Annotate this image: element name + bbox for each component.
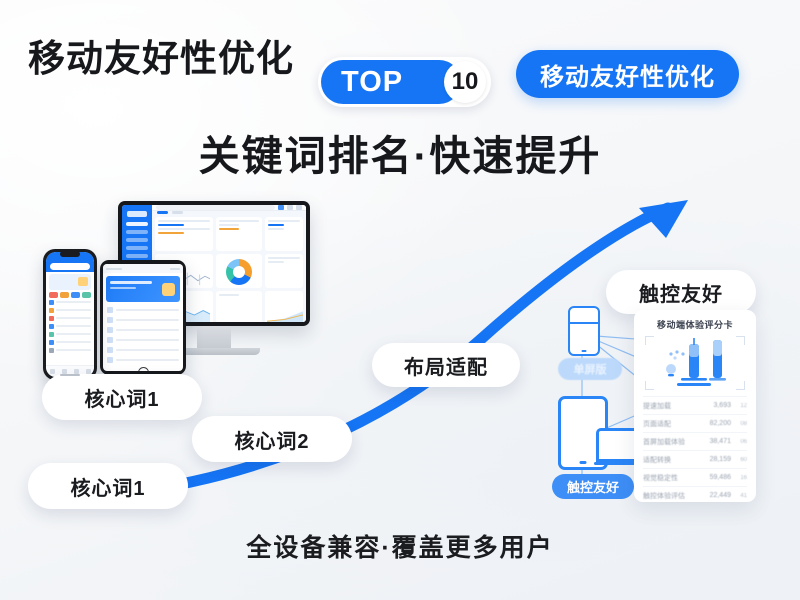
card-line — [158, 220, 210, 222]
list-text-line — [56, 341, 91, 343]
dashboard-area-card — [265, 291, 303, 322]
scorecard-title: 移动端体验评分卡 — [643, 318, 747, 331]
tablet-mockup — [100, 260, 186, 375]
dashboard-topbar-chip — [278, 205, 284, 210]
quick-icon[interactable] — [60, 292, 69, 298]
keyword-pill-3[interactable]: 核心词1 — [28, 463, 188, 509]
tablet-list-item[interactable] — [103, 315, 183, 325]
dashboard-nav-item — [126, 246, 148, 250]
phone-search-input[interactable] — [50, 263, 90, 270]
dashboard-topbar-chip — [296, 205, 302, 210]
phone-list-item[interactable] — [46, 298, 94, 306]
scorecard-row-name: 适配转换 — [643, 455, 705, 465]
card-line — [268, 224, 284, 226]
list-icon — [107, 327, 113, 333]
tablet-list-item[interactable] — [103, 345, 183, 355]
dashboard-nav-item — [126, 238, 148, 242]
card-line — [158, 224, 184, 226]
list-icon — [107, 347, 113, 353]
scorecard-row-name: 首屏加载体验 — [643, 437, 705, 447]
dashboard-topbar-chip — [287, 205, 293, 210]
scorecard-row: 页面适配82,20008 — [643, 414, 747, 432]
phone-small-icon — [568, 306, 600, 356]
frame-corner — [645, 336, 654, 345]
page-subtitle: 关键词排名·快速提升 — [0, 122, 800, 182]
list-icon — [49, 316, 54, 321]
top-badge-number: 10 — [452, 68, 479, 96]
keyword-pill-2[interactable]: 核心词2 — [192, 416, 352, 462]
scorecard-row-value: 38,471 — [709, 438, 731, 445]
list-icon — [49, 340, 54, 345]
list-icon — [107, 317, 113, 323]
list-text-line — [116, 339, 179, 341]
list-text-line — [56, 333, 91, 335]
banner-thumbnail — [162, 283, 175, 296]
scorecard-row-delta: 60 — [735, 457, 747, 463]
header-tag-pill: 移动友好性优化 — [516, 50, 739, 98]
diagram-tag-touch: 触控友好 — [552, 474, 634, 499]
top-badge-blue-body: TOP — [321, 60, 461, 104]
scorecard-row: 适配转换28,15960 — [643, 450, 747, 468]
phone-list-item[interactable] — [46, 338, 94, 346]
smartphone-mockup — [43, 249, 97, 380]
dashboard-nav-item — [126, 222, 148, 226]
dashboard-card — [216, 291, 262, 322]
tablet-banner — [106, 276, 180, 302]
tablet-list-item[interactable] — [103, 325, 183, 335]
scorecard-row: 触控体验评估22,44941 — [643, 486, 747, 502]
mobile-scorecard: 移动端体验评分卡 提速加载3,693 — [634, 310, 756, 502]
scorecard-row-value: 28,159 — [709, 456, 731, 463]
dashboard-search-input[interactable] — [156, 205, 275, 210]
poster-canvas: 移动友好性优化 TOP 10 移动友好性优化 关键词排名·快速提升 — [0, 0, 800, 600]
scorecard-row-name: 触控体验评估 — [643, 491, 705, 501]
list-text-line — [116, 319, 179, 321]
card-line — [219, 294, 239, 296]
monitor-stand-neck — [197, 326, 231, 348]
top-badge-number-circle: 10 — [444, 61, 486, 103]
tablet-topbar-bar — [106, 268, 122, 270]
list-text-line — [116, 329, 179, 331]
card-line — [219, 220, 259, 222]
card-line — [219, 224, 239, 226]
tablet-home-button[interactable] — [138, 367, 149, 371]
scorecard-row-value: 82,200 — [709, 420, 731, 427]
scorecard-row-delta: 08 — [735, 421, 747, 427]
list-icon — [107, 337, 113, 343]
phone-list-item[interactable] — [46, 314, 94, 322]
promo-thumbnail — [78, 277, 88, 286]
list-text-line — [56, 309, 91, 311]
phone-list-item[interactable] — [46, 322, 94, 330]
quick-icon[interactable] — [71, 292, 80, 298]
header-tag-label: 移动友好性优化 — [540, 57, 715, 92]
scorecard-row-name: 提速加载 — [643, 401, 705, 411]
scorecard-row: 提速加载3,69312 — [643, 396, 747, 414]
bar-chart-icon — [645, 336, 749, 390]
tablet-screen — [103, 264, 183, 371]
tablet-list-item[interactable] — [103, 355, 183, 365]
scorecard-row: 首屏加载体验38,47106 — [643, 432, 747, 450]
phone-list-item[interactable] — [46, 330, 94, 338]
phone-list-item[interactable] — [46, 306, 94, 314]
tablet-topbar — [103, 264, 183, 273]
donut-chart-icon — [226, 259, 252, 285]
quick-icon[interactable] — [82, 292, 91, 298]
card-line — [158, 228, 210, 230]
footer-tagline: 全设备兼容·覆盖更多用户 — [0, 528, 800, 564]
scorecard-rows: 提速加载3,69312页面适配82,20008首屏加载体验38,47106适配转… — [643, 396, 747, 502]
scorecard-row-name: 视觉稳定性 — [643, 473, 705, 483]
keyword-pill-1[interactable]: 核心词1 — [42, 374, 202, 420]
list-text-line — [56, 301, 91, 303]
list-text-line — [56, 325, 91, 327]
top-rank-badge: TOP 10 — [318, 57, 491, 107]
phone-notch — [60, 251, 80, 257]
dashboard-card — [265, 217, 303, 251]
scorecard-row-delta: 41 — [735, 493, 747, 499]
list-text-line — [56, 349, 91, 351]
phone-promo-card[interactable] — [49, 274, 91, 290]
card-line — [219, 228, 239, 230]
frame-corner — [736, 336, 745, 345]
banner-sub-line — [110, 287, 136, 289]
scorecard-row: 视觉稳定性59,48616 — [643, 468, 747, 486]
dashboard-card — [216, 217, 262, 251]
list-icon — [107, 307, 113, 313]
quick-icon[interactable] — [49, 292, 58, 298]
banner-title-line — [110, 281, 152, 284]
scorecard-row-value: 3,693 — [709, 402, 731, 409]
dashboard-card — [265, 254, 303, 288]
scorecard-row-value: 59,486 — [709, 474, 731, 481]
dashboard-card — [155, 217, 213, 251]
dashboard-donut-card — [216, 254, 262, 288]
frame-corner — [736, 381, 745, 390]
frame-corner — [645, 381, 654, 390]
dashboard-logo — [127, 211, 147, 217]
phone-home-indicator — [60, 374, 80, 376]
card-line — [268, 257, 300, 259]
dashboard-nav-item — [126, 230, 148, 234]
list-text-line — [56, 317, 91, 319]
scorecard-row-delta: 16 — [735, 475, 747, 481]
list-icon — [107, 357, 113, 363]
phone-screen — [46, 252, 94, 377]
top-badge-word: TOP — [341, 66, 403, 99]
dashboard-nav-item — [126, 254, 148, 258]
tablet-list-item[interactable] — [103, 305, 183, 315]
list-icon — [49, 348, 54, 353]
list-text-line — [116, 349, 179, 351]
list-icon — [49, 324, 54, 329]
card-line — [268, 261, 284, 263]
card-line — [268, 220, 300, 222]
scorecard-row-value: 22,449 — [709, 492, 731, 499]
list-icon — [49, 300, 54, 305]
area-chart-icon — [267, 307, 303, 322]
page-title: 移动友好性优化 — [28, 28, 294, 82]
list-icon — [49, 308, 54, 313]
card-line — [268, 228, 284, 230]
scorecard-illustration — [645, 336, 745, 390]
list-text-line — [116, 359, 179, 361]
list-text-line — [116, 309, 179, 311]
phone-list-item[interactable] — [46, 346, 94, 354]
feature-pill-layout[interactable]: 布局适配 — [372, 343, 520, 387]
diagram-tag-light: 单屏版 — [558, 358, 622, 380]
list-icon — [49, 332, 54, 337]
scorecard-row-delta: 12 — [735, 403, 747, 409]
scorecard-row-name: 页面适配 — [643, 419, 705, 429]
card-line — [158, 232, 184, 234]
tablet-list-item[interactable] — [103, 335, 183, 345]
scorecard-row-delta: 06 — [735, 439, 747, 445]
tablet-topbar-bar — [170, 268, 180, 270]
